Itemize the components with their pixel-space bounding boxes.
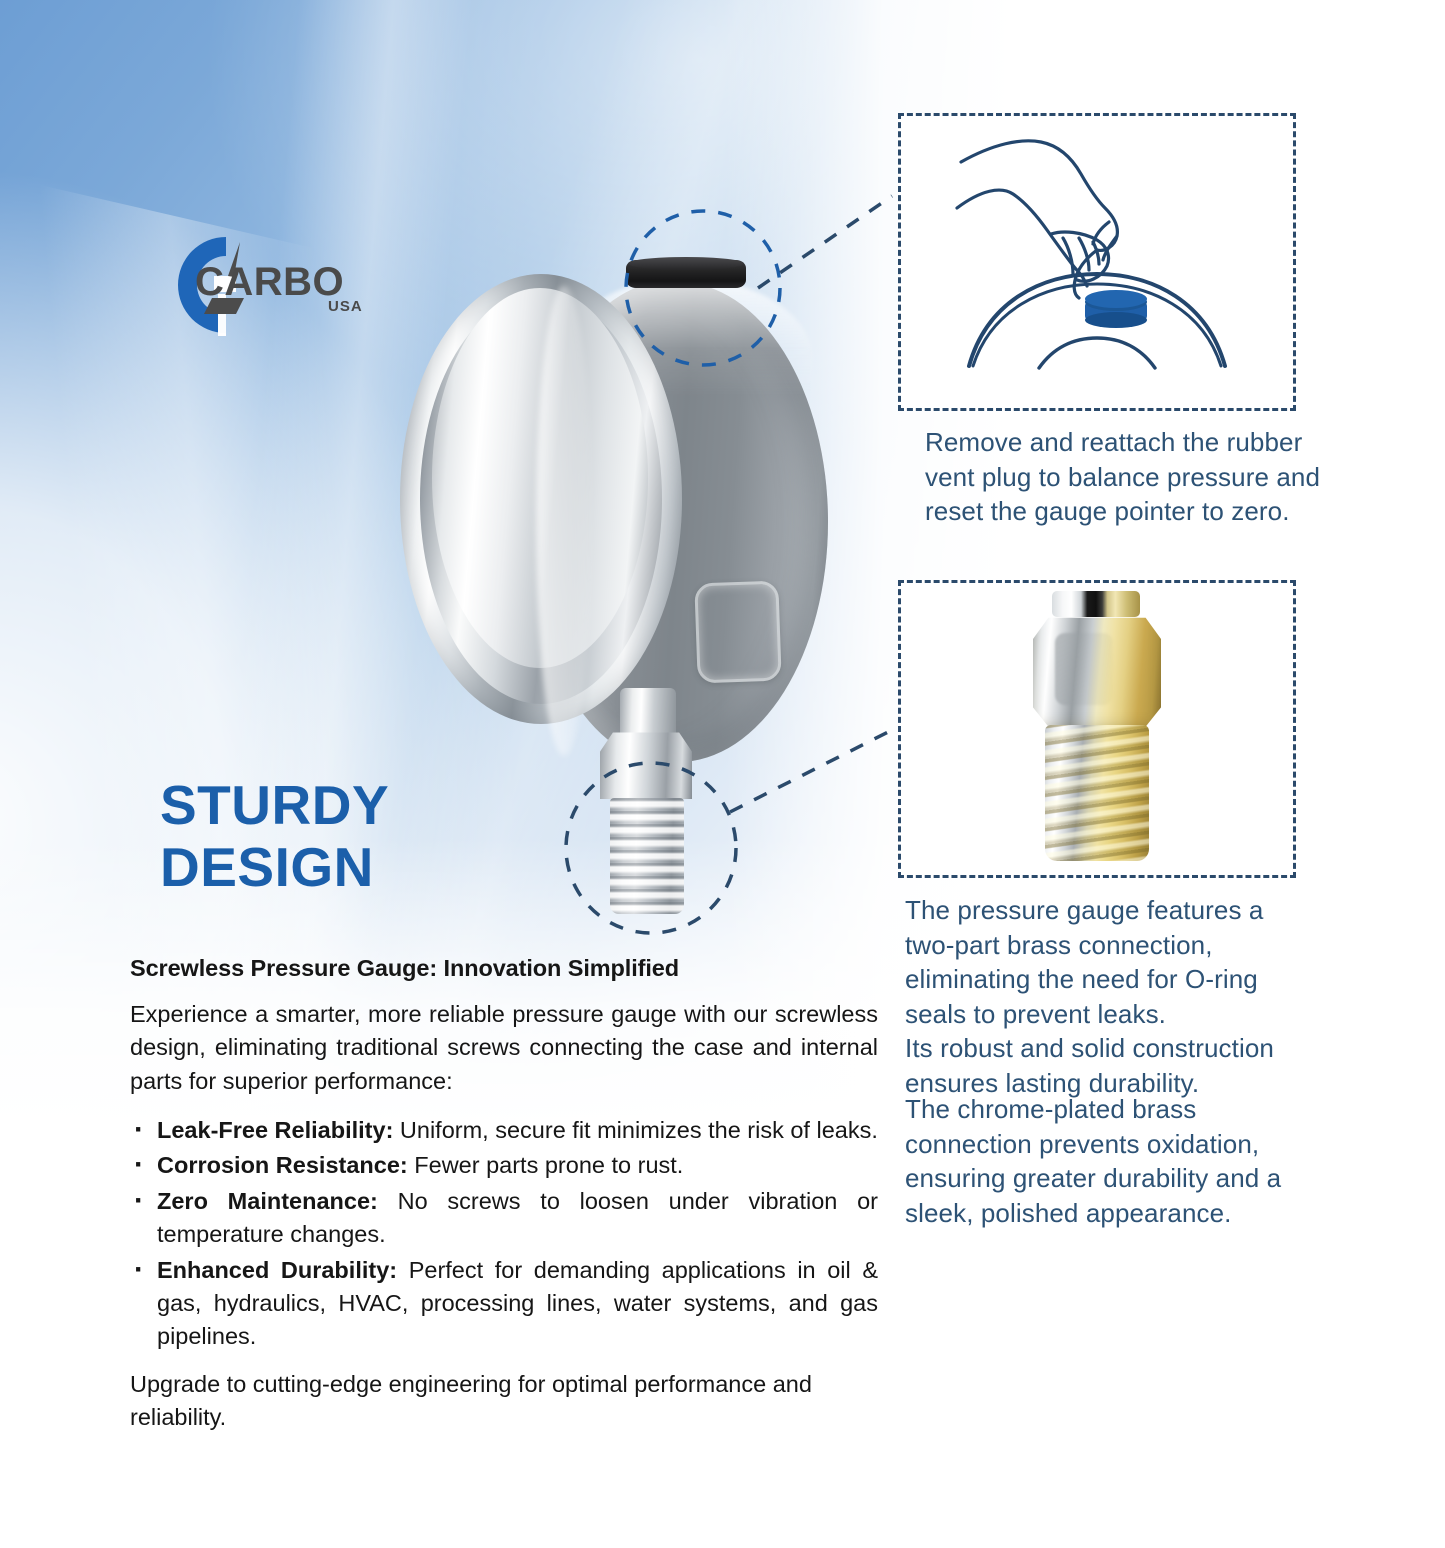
feature-bullet-item: Zero Maintenance: No screws to loosen un…	[130, 1185, 878, 1252]
vent-plug-caption: Remove and reattach the rubber vent plug…	[925, 425, 1325, 529]
feature-bullet-term: Enhanced Durability:	[157, 1257, 397, 1283]
gauge-case-highlight	[536, 286, 592, 756]
logo-wordmark: CARBO	[195, 260, 344, 304]
logo-sub-wordmark: USA	[328, 298, 363, 315]
feature-bullet-item: Enhanced Durability: Perfect for demandi…	[130, 1254, 878, 1354]
feature-bullet-text: Fewer parts prone to rust.	[408, 1152, 684, 1178]
brass-connection-caption-primary: The pressure gauge features a two-part b…	[905, 893, 1313, 1100]
headline-line-1: STURDY	[160, 775, 580, 837]
feature-bullet-term: Zero Maintenance:	[157, 1188, 378, 1214]
carbo-usa-logo: CARBO USA	[168, 232, 378, 342]
logo-svg: CARBO USA	[168, 232, 378, 342]
headline-line-2: DESIGN	[160, 837, 580, 899]
connector-neck	[620, 688, 676, 740]
description-intro: Experience a smarter, more reliable pres…	[130, 998, 878, 1098]
page-headline: STURDY DESIGN	[160, 775, 580, 898]
brass-connection-caption-secondary: The chrome-plated brass connection preve…	[905, 1092, 1313, 1230]
description-outro: Upgrade to cutting-edge engineering for …	[130, 1368, 878, 1435]
feature-bullet-item: Leak-Free Reliability: Uniform, secure f…	[130, 1114, 878, 1147]
connector-hex-nut	[600, 728, 692, 802]
feature-bullet-term: Corrosion Resistance:	[157, 1152, 408, 1178]
hand-removing-vent-plug-icon	[901, 116, 1293, 408]
fitting-threads	[1045, 725, 1149, 861]
connector-threads	[610, 798, 684, 914]
feature-bullet-item: Corrosion Resistance: Fewer parts prone …	[130, 1149, 878, 1182]
gauge-case-emboss	[694, 581, 781, 684]
fitting-collar	[1052, 591, 1140, 617]
product-description-block: Screwless Pressure Gauge: Innovation Sim…	[130, 955, 878, 1434]
brass-connection-detail-box	[898, 580, 1296, 878]
description-title: Screwless Pressure Gauge: Innovation Sim…	[130, 955, 878, 982]
vent-plug-disc-icon	[1085, 290, 1147, 328]
rubber-vent-plug-top	[628, 257, 744, 270]
feature-bullet-text: Uniform, secure fit minimizes the risk o…	[393, 1117, 878, 1143]
feature-bullet-list: Leak-Free Reliability: Uniform, secure f…	[130, 1114, 878, 1354]
feature-bullet-term: Leak-Free Reliability:	[157, 1117, 393, 1143]
fitting-hex-face-highlight	[1055, 633, 1113, 705]
vent-plug-detail-box	[898, 113, 1296, 411]
chrome-brass-fitting-image	[1021, 591, 1173, 863]
